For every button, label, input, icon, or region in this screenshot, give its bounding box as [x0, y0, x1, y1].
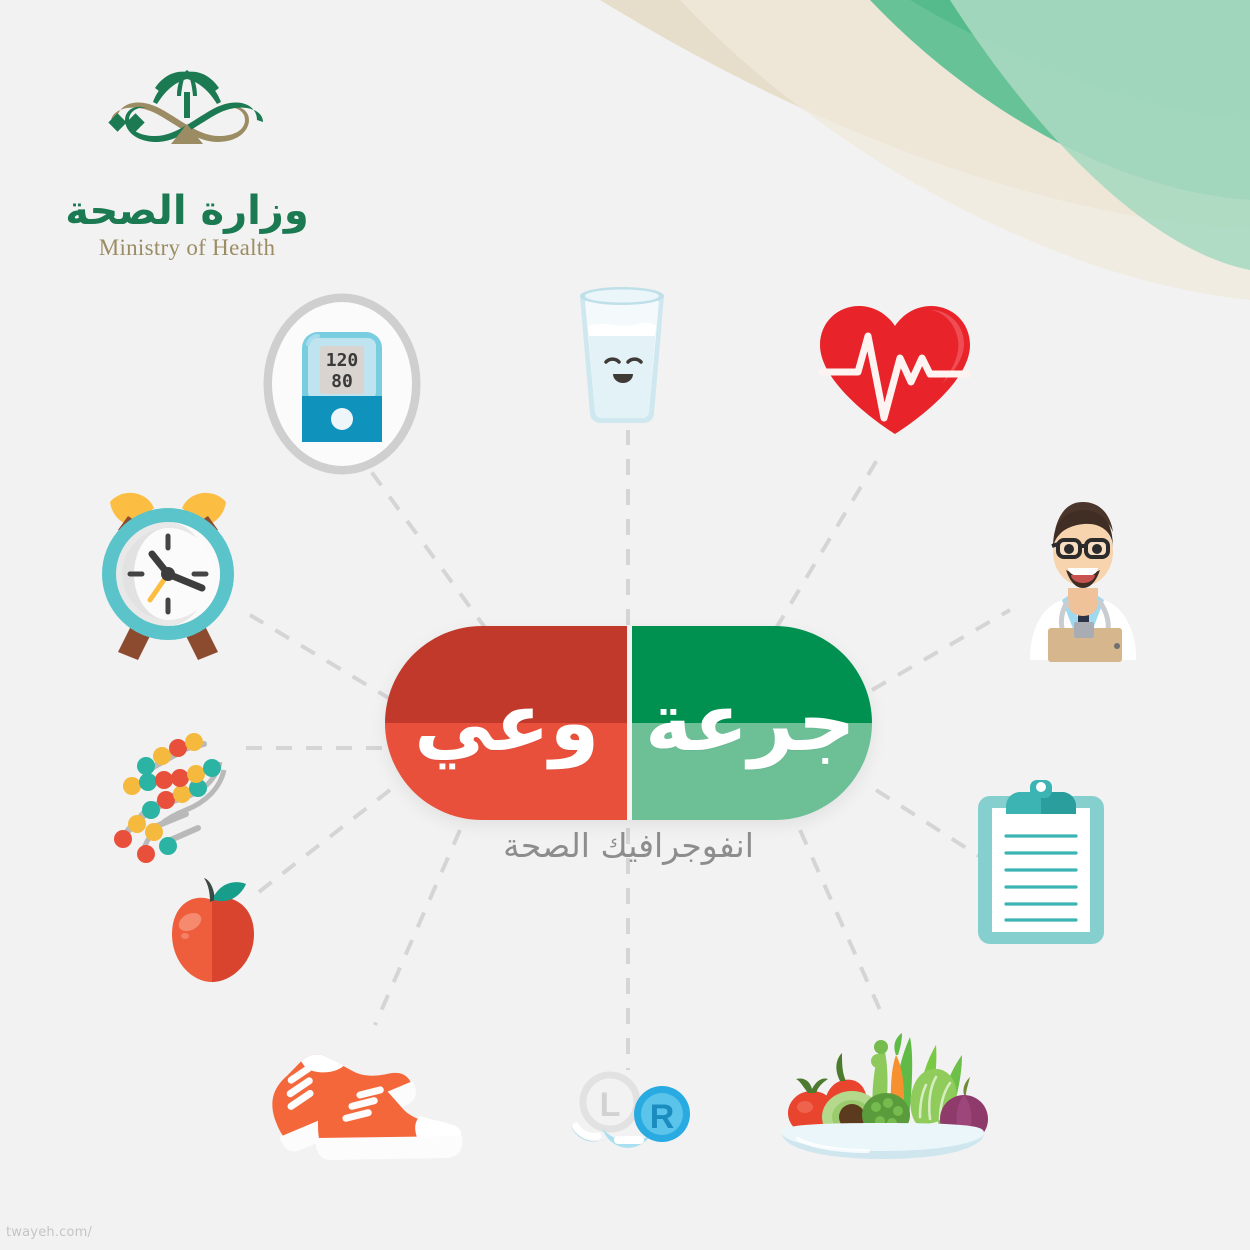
dna-helix-icon	[90, 718, 240, 868]
pill-half-red: وعي	[385, 626, 629, 820]
heart-pulse-icon	[812, 300, 978, 440]
pill-subtitle: انفوجرافيك الصحة	[385, 826, 872, 865]
logo-english-title: Ministry of Health	[62, 235, 312, 261]
logo-arabic-title: وزارة الصحة	[62, 190, 312, 232]
apple-icon	[162, 872, 266, 988]
bp-systolic: 120	[326, 350, 359, 371]
pill-word-red: وعي	[414, 683, 599, 763]
alarm-clock-icon	[88, 476, 248, 662]
sneakers-icon	[262, 1018, 468, 1170]
infographic-canvas: وزارة الصحة Ministry of Health وعي	[0, 0, 1250, 1250]
milk-glass-icon	[566, 278, 678, 430]
contact-lens-right-label: R	[650, 1098, 675, 1136]
pill-half-green: جرعة	[629, 626, 873, 820]
contact-lenses-icon: L R	[562, 1062, 694, 1166]
pill-word-green: جرعة	[645, 683, 856, 763]
clipboard-icon	[968, 778, 1114, 946]
site-watermark: twayeh.com/	[6, 1225, 92, 1240]
pill-divider	[627, 626, 632, 820]
center-pill: وعي جرعة	[385, 626, 872, 820]
vegetable-plate-icon	[778, 1015, 988, 1165]
moh-emblem-icon	[77, 58, 297, 188]
ministry-of-health-logo: وزارة الصحة Ministry of Health	[62, 58, 312, 261]
corner-ribbons-decoration	[350, 0, 1250, 320]
doctor-icon	[1008, 470, 1158, 660]
contact-lens-left-label: L	[600, 1086, 621, 1124]
blood-pressure-monitor-icon: 120 80	[262, 292, 422, 482]
bp-diastolic: 80	[331, 371, 353, 392]
